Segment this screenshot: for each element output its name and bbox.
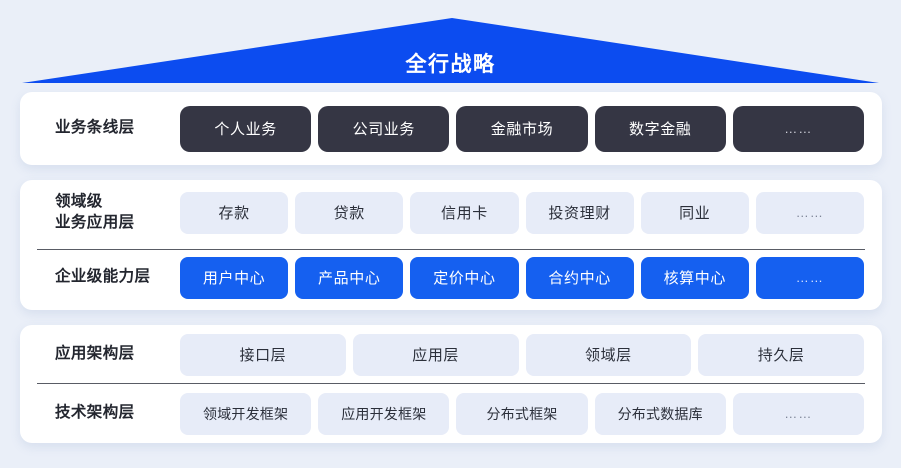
row-technical-architecture: 技术架构层 领域开发框架 应用开发框架 分布式框架 分布式数据库 …… <box>20 384 882 443</box>
pill-group-enterprise-capability: 用户中心 产品中心 定价中心 合约中心 核算中心 …… <box>180 257 882 299</box>
row-label-technical-architecture: 技术架构层 <box>37 403 180 424</box>
row-domain-business-application: 领域级 业务应用层 存款 贷款 信用卡 投资理财 同业 …… <box>20 180 882 245</box>
pill-deposit[interactable]: 存款 <box>180 192 288 234</box>
card-architecture-layer: 应用架构层 接口层 应用层 领域层 持久层 技术架构层 领域开发框架 应用开发框… <box>20 325 882 443</box>
row-label-line1: 业务条线层 <box>55 119 135 136</box>
architecture-diagram: 全行战略 业务条线层 个人业务 公司业务 金融市场 数字金融 …… 领域级 业务… <box>0 0 901 468</box>
pill-group-application-architecture: 接口层 应用层 领域层 持久层 <box>180 334 882 376</box>
pill-persistence-layer[interactable]: 持久层 <box>698 334 864 376</box>
divider-architecture-card <box>37 383 865 384</box>
row-business-line: 业务条线层 个人业务 公司业务 金融市场 数字金融 …… <box>20 92 882 165</box>
pill-application-layer[interactable]: 应用层 <box>353 334 519 376</box>
pill-distributed-database[interactable]: 分布式数据库 <box>595 393 726 435</box>
pill-product-center[interactable]: 产品中心 <box>295 257 403 299</box>
pill-enterprise-capability-more[interactable]: …… <box>756 257 864 299</box>
row-label-business-line: 业务条线层 <box>37 118 180 139</box>
pill-group-technical-architecture: 领域开发框架 应用开发框架 分布式框架 分布式数据库 …… <box>180 393 882 435</box>
pill-group-domain-business: 存款 贷款 信用卡 投资理财 同业 …… <box>180 192 882 234</box>
pill-credit-card[interactable]: 信用卡 <box>410 192 518 234</box>
pill-investment-wealth[interactable]: 投资理财 <box>526 192 634 234</box>
row-label-line1: 应用架构层 <box>55 345 135 362</box>
pill-personal-business[interactable]: 个人业务 <box>180 106 311 152</box>
pill-technical-architecture-more[interactable]: …… <box>733 393 864 435</box>
pill-digital-finance[interactable]: 数字金融 <box>595 106 726 152</box>
row-label-line1: 领域级 <box>55 192 180 213</box>
row-label-application-architecture: 应用架构层 <box>37 344 180 365</box>
pill-domain-layer[interactable]: 领域层 <box>526 334 692 376</box>
pill-distributed-framework[interactable]: 分布式框架 <box>456 393 587 435</box>
pill-application-dev-framework[interactable]: 应用开发框架 <box>318 393 449 435</box>
pill-pricing-center[interactable]: 定价中心 <box>410 257 518 299</box>
pill-financial-market[interactable]: 金融市场 <box>456 106 587 152</box>
row-enterprise-capability: 企业级能力层 用户中心 产品中心 定价中心 合约中心 核算中心 …… <box>20 245 882 310</box>
pill-interbank[interactable]: 同业 <box>641 192 749 234</box>
pill-group-business-line: 个人业务 公司业务 金融市场 数字金融 …… <box>180 106 882 152</box>
pill-contract-center[interactable]: 合约中心 <box>526 257 634 299</box>
row-label-line2: 业务应用层 <box>55 213 180 234</box>
row-application-architecture: 应用架构层 接口层 应用层 领域层 持久层 <box>20 325 882 384</box>
pill-interface-layer[interactable]: 接口层 <box>180 334 346 376</box>
card-business-line-layer: 业务条线层 个人业务 公司业务 金融市场 数字金融 …… <box>20 92 882 165</box>
pill-accounting-center[interactable]: 核算中心 <box>641 257 749 299</box>
pill-domain-business-more[interactable]: …… <box>756 192 864 234</box>
strategy-roof-shape <box>0 14 901 88</box>
row-label-enterprise-capability: 企业级能力层 <box>37 267 180 288</box>
card-domain-capability-layer: 领域级 业务应用层 存款 贷款 信用卡 投资理财 同业 …… 企业级能力层 用户… <box>20 180 882 310</box>
roof-triangle-icon <box>0 14 901 88</box>
pill-domain-dev-framework[interactable]: 领域开发框架 <box>180 393 311 435</box>
pill-loan[interactable]: 贷款 <box>295 192 403 234</box>
pill-business-line-more[interactable]: …… <box>733 106 864 152</box>
row-label-line1: 企业级能力层 <box>55 268 150 285</box>
row-label-line1: 技术架构层 <box>55 404 135 421</box>
divider-domain-card <box>37 249 865 250</box>
pill-user-center[interactable]: 用户中心 <box>180 257 288 299</box>
pill-corporate-business[interactable]: 公司业务 <box>318 106 449 152</box>
row-label-domain-business-application: 领域级 业务应用层 <box>37 192 180 234</box>
